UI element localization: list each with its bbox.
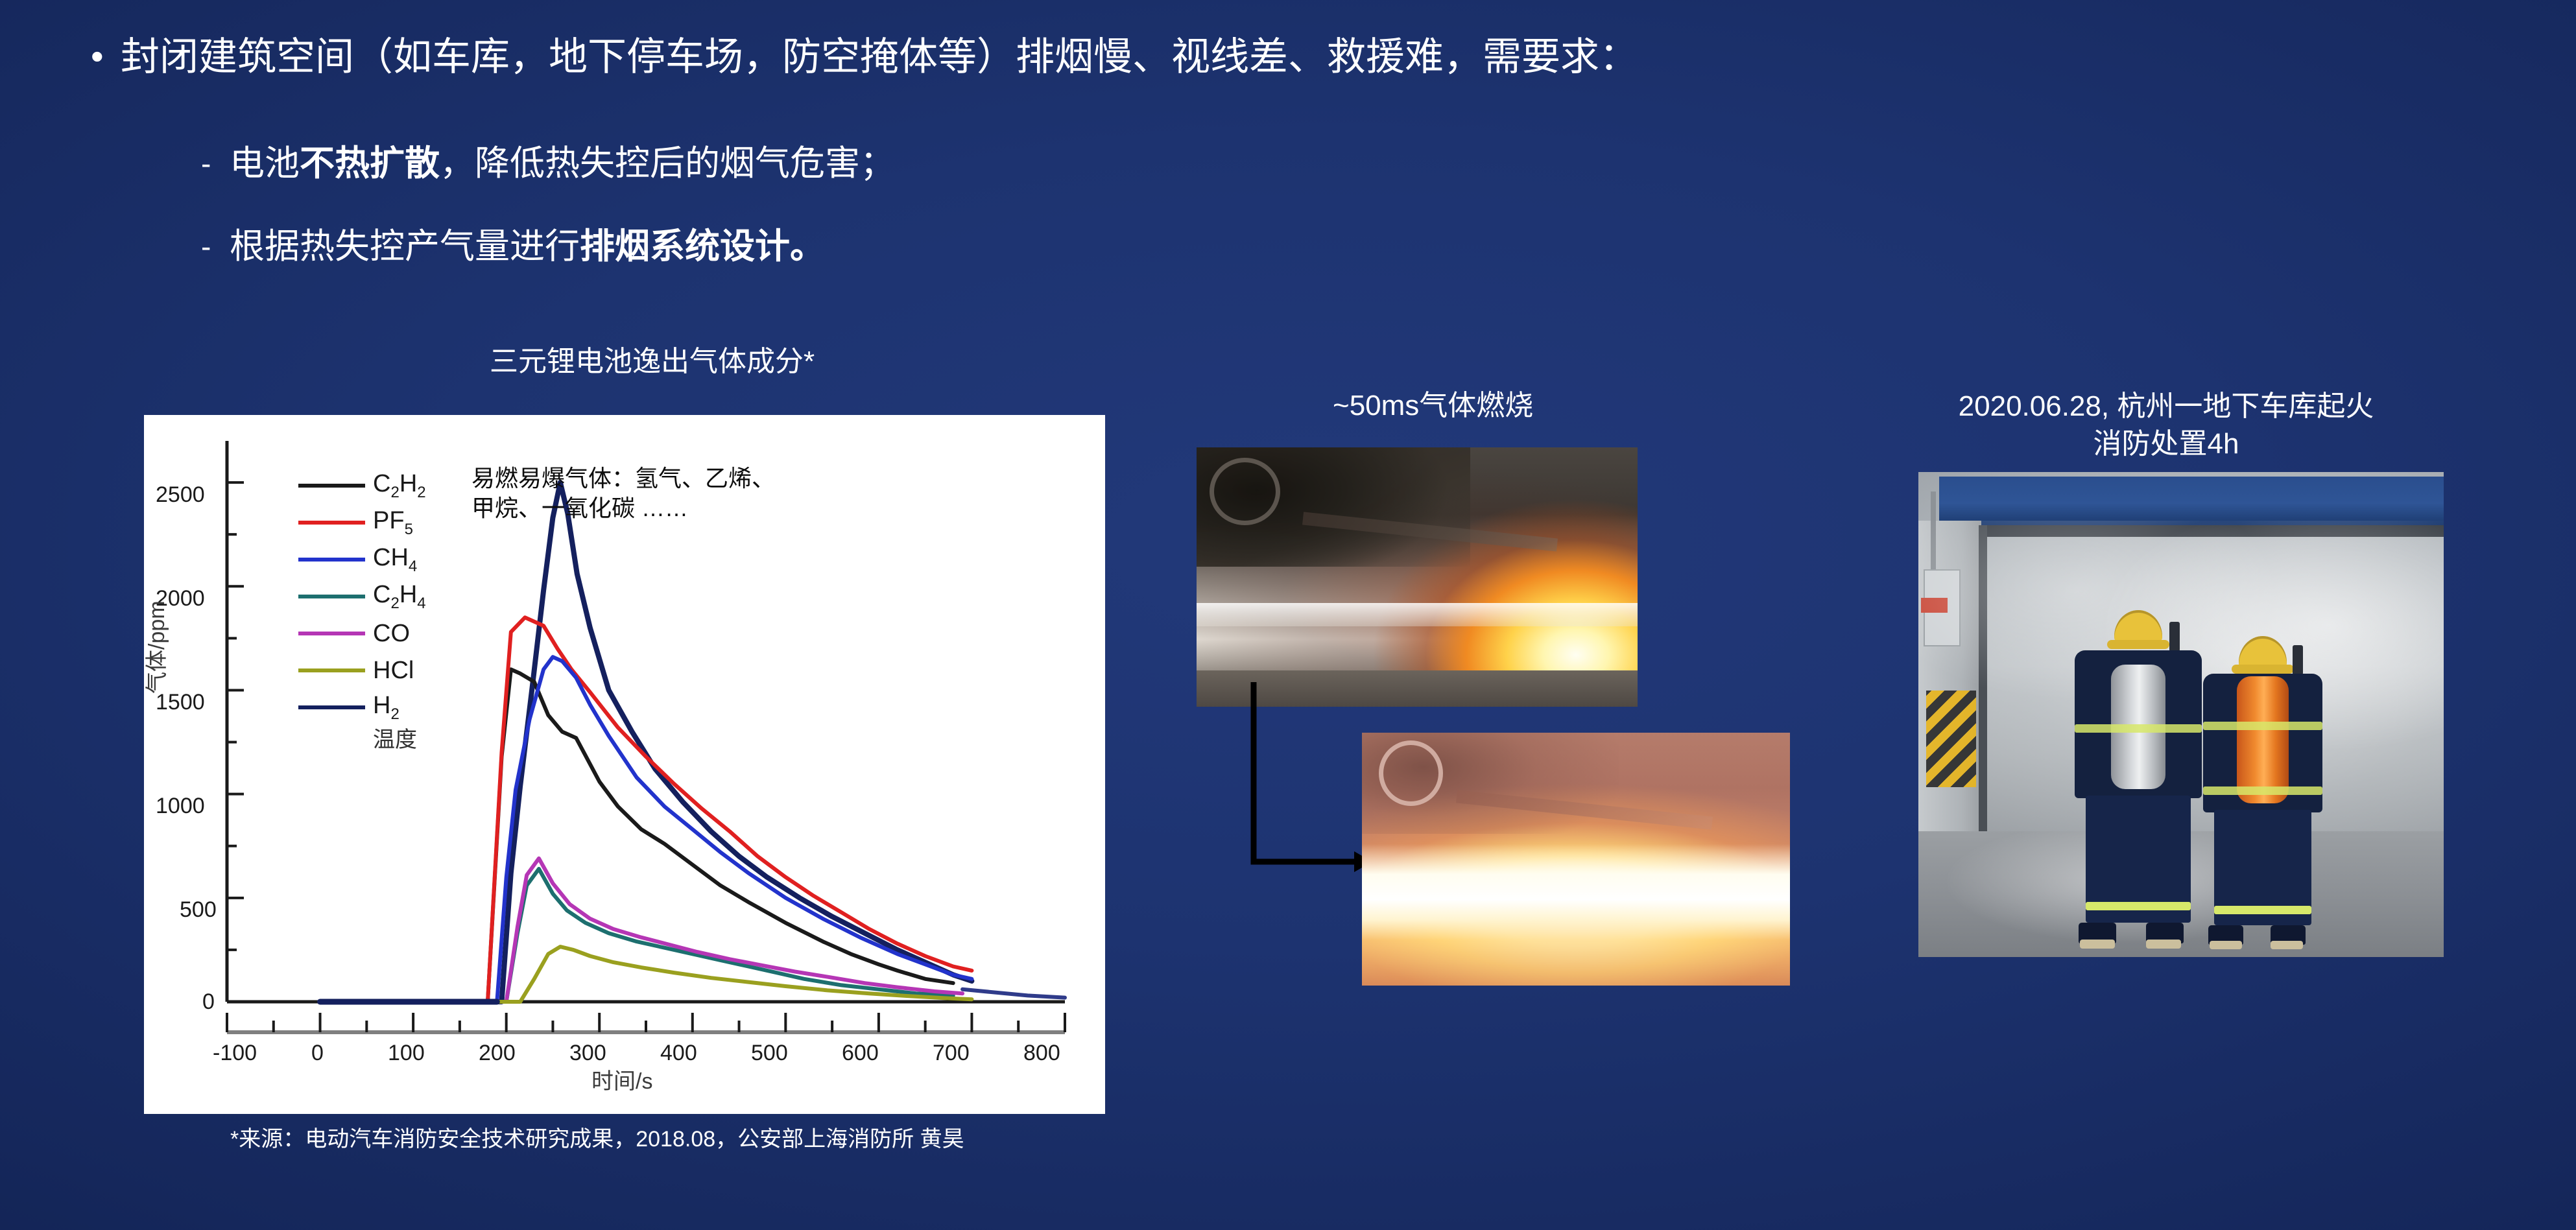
firefighter-scba-tank <box>2237 676 2289 803</box>
middle-caption: ~50ms气体燃烧 <box>1333 388 1533 424</box>
photo-c-firefighter-right <box>2191 636 2334 947</box>
legend-swatch-c2h2 <box>298 484 365 488</box>
sub-pre-2: 根据热失控产气量进行 <box>230 227 580 266</box>
x-tick-500: 500 <box>751 1041 788 1066</box>
bullet-level2-text-1: 电池不热扩散，降低热失控后的烟气危害； <box>230 139 895 187</box>
x-tick-700: 700 <box>933 1041 970 1066</box>
bullet-marker-dot: • <box>91 31 121 82</box>
series-line-hcl <box>320 947 972 1002</box>
source-note: *来源：电动汽车消防安全技术研究成果，2018.08，公安部上海消防所 黄昊 <box>230 1125 964 1153</box>
firefighter-cuff-stripe <box>2214 906 2311 914</box>
right-caption-line1: 2020.06.28, 杭州一地下车库起火 <box>1868 388 2464 425</box>
y-axis-label: 气体/ppm <box>139 600 171 694</box>
sub-post-1: ，降低热失控后的烟气危害； <box>440 144 895 183</box>
legend-item-hcl: HCl <box>298 652 426 689</box>
sub-bold-2: 排烟系统设计。 <box>580 227 825 266</box>
chart-legend: C2H2 PF5 CH4 C2H4 CO <box>298 467 426 754</box>
legend-item-ch4: CH4 <box>298 541 426 578</box>
legend-item-c2h2: C2H2 <box>298 467 426 504</box>
x-tick-400: 400 <box>660 1041 697 1066</box>
chart-title: 三元锂电池逸出气体成分* <box>490 344 815 380</box>
bullet-level1: • 封闭建筑空间（如车库，地下停车场，防空掩体等）排烟慢、视线差、救援难，需要求… <box>91 31 1638 83</box>
legend-label-h2: H2 <box>373 693 400 721</box>
bullet-marker-dash: - <box>201 222 230 270</box>
bullet-level2-item-1: - 电池不热扩散，降低热失控后的烟气危害； <box>201 139 895 187</box>
legend-item-c2h4: C2H4 <box>298 578 426 615</box>
legend-label-hcl: HCl <box>373 658 414 683</box>
photo-b-wheel-rim <box>1379 740 1443 806</box>
legend-item-co: CO <box>298 615 426 652</box>
photo-c-rolling-shutter <box>1939 477 2444 525</box>
legend-swatch-h2 <box>298 705 365 709</box>
right-caption-line2: 消防处置4h <box>1868 425 2464 463</box>
x-tick-600: 600 <box>842 1041 879 1066</box>
firefighter-sole-left <box>2210 941 2242 949</box>
x-tick-300: 300 <box>569 1041 606 1066</box>
firefighter-sole-right <box>2271 941 2303 949</box>
firefighter-helmet-icon <box>2114 610 2162 644</box>
y-tick-0: 0 <box>202 989 215 1015</box>
legend-swatch-pf5 <box>298 521 365 525</box>
firefighter-cuff-stripe <box>2086 902 2191 910</box>
bullet-level2-text-2: 根据热失控产气量进行排烟系统设计。 <box>230 222 825 270</box>
sub-pre-1: 电池 <box>230 144 300 183</box>
firefighter-reflective-stripe <box>2075 724 2202 733</box>
firefighter-helmet-brim <box>2107 640 2169 649</box>
legend-label-c2h4: C2H4 <box>373 582 426 610</box>
y-tick-500: 500 <box>180 897 217 923</box>
x-tick-100: 100 <box>388 1041 425 1066</box>
legend-swatch-ch4 <box>298 558 365 562</box>
legend-label-c2h2: C2H2 <box>373 471 426 499</box>
firefighter-reflective-stripe <box>2203 722 2322 730</box>
legend-swatch-co <box>298 632 365 635</box>
legend-label-temperature: 温度 <box>298 726 426 754</box>
right-caption: 2020.06.28, 杭州一地下车库起火 消防处置4h <box>1868 388 2464 463</box>
y-tick-2500: 2500 <box>156 482 205 508</box>
legend-item-pf5: PF5 <box>298 504 426 541</box>
legend-label-pf5: PF5 <box>373 508 413 536</box>
series-tail <box>962 989 1065 998</box>
x-axis-label: 时间/s <box>591 1063 652 1095</box>
gas-composition-chart-panel: 2500 2000 1500 1000 500 0 -100 0 100 200… <box>144 415 1105 1114</box>
series-line-co <box>320 858 963 1002</box>
vehicle-underbody-full-flame-photo <box>1362 733 1790 986</box>
firefighter-sole-left <box>2080 940 2115 949</box>
vehicle-underbody-gas-ignition-photo <box>1197 447 1638 707</box>
firefighters-in-smoky-garage-photo <box>1918 472 2444 957</box>
legend-label-co: CO <box>373 621 410 646</box>
y-tick-1000: 1000 <box>156 794 205 819</box>
bullet-level1-text: 封闭建筑空间（如车库，地下停车场，防空掩体等）排烟慢、视线差、救援难，需要求： <box>121 31 1638 83</box>
sub-bold-1: 不热扩散 <box>300 144 440 183</box>
firefighter-radio-antenna <box>2293 645 2303 675</box>
legend-swatch-c2h4 <box>298 595 365 598</box>
x-tick-200: 200 <box>479 1041 516 1066</box>
bullet-marker-dash: - <box>201 139 230 187</box>
legend-label-ch4: CH4 <box>373 545 417 573</box>
photo-a-wheel-rim <box>1210 458 1280 525</box>
chart-annotation: 易燃易爆气体：氢气、乙烯、甲烷、一氧化碳 …… <box>471 464 776 523</box>
x-tick-800: 800 <box>1023 1041 1060 1066</box>
firefighter-helmet-brim <box>2232 665 2294 674</box>
legend-swatch-hcl <box>298 668 365 672</box>
firefighter-sole-right <box>2146 940 2181 949</box>
x-tick-0: 0 <box>311 1041 324 1066</box>
x-tick-m100: -100 <box>213 1041 257 1066</box>
legend-item-h2: H2 <box>298 689 426 726</box>
slide-canvas: • 封闭建筑空间（如车库，地下停车场，防空掩体等）排烟慢、视线差、救援难，需要求… <box>0 0 2576 1230</box>
firefighter-reflective-stripe-2 <box>2203 786 2322 795</box>
photo-a-rocker-sill <box>1197 603 1638 626</box>
firefighter-radio-antenna <box>2169 622 2180 652</box>
bullet-level2-item-2: - 根据热失控产气量进行排烟系统设计。 <box>201 222 825 270</box>
